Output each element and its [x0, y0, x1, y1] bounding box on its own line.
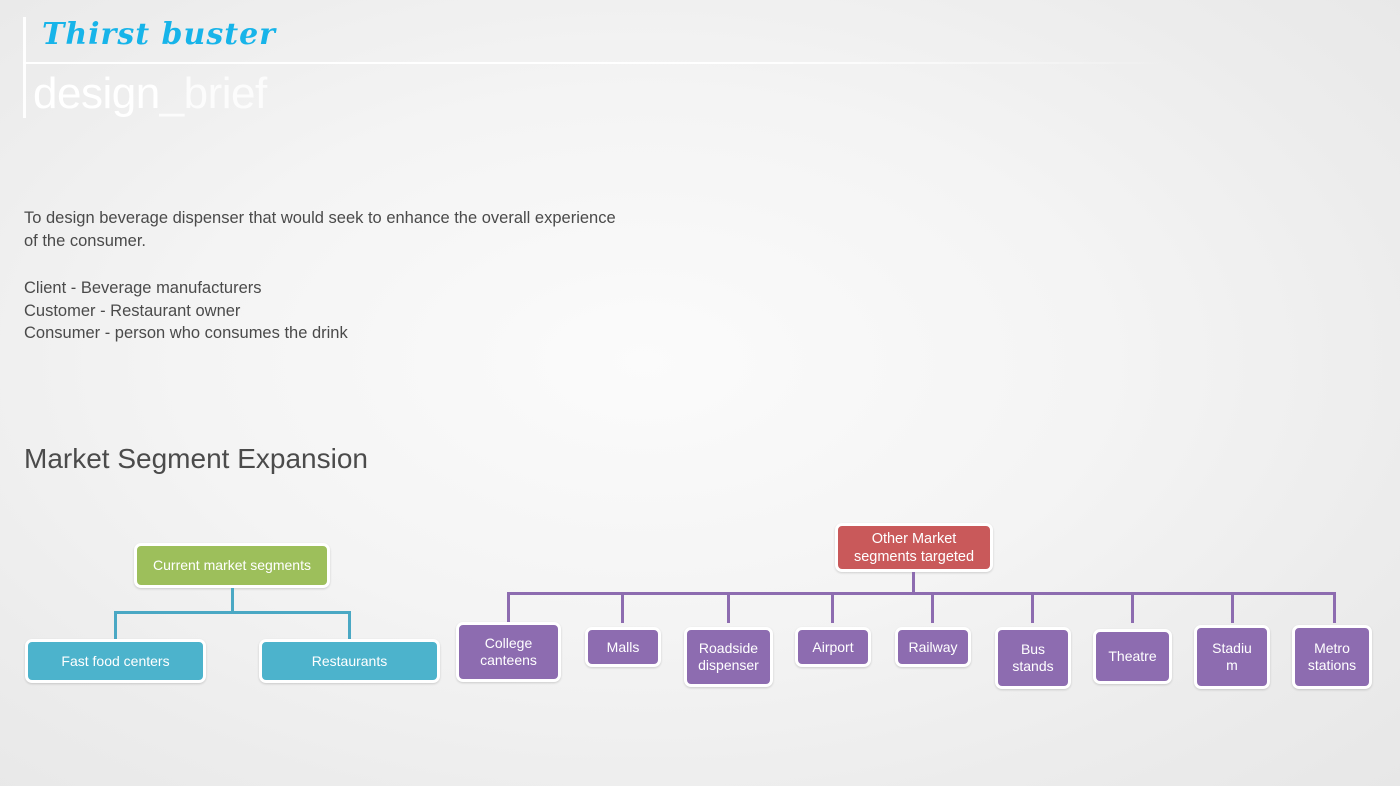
connector-other-drop-2 — [621, 592, 624, 623]
connector-other-drop-6 — [1031, 592, 1034, 623]
node-stadium[interactable]: Stadiu m — [1194, 625, 1270, 689]
connector-other-drop-8 — [1231, 592, 1234, 623]
market-segment-diagram: Current market segments Fast food center… — [0, 0, 1400, 786]
node-restaurants[interactable]: Restaurants — [259, 639, 440, 683]
node-malls[interactable]: Malls — [585, 627, 661, 667]
node-fast-food-centers[interactable]: Fast food centers — [25, 639, 206, 683]
connector-other-root-stem — [912, 572, 915, 594]
connector-current-bus — [114, 611, 351, 614]
connector-other-drop-7 — [1131, 592, 1134, 623]
connector-other-drop-3 — [727, 592, 730, 623]
connector-current-drop-1 — [114, 611, 117, 640]
connector-other-drop-4 — [831, 592, 834, 623]
slide-canvas: Thirst buster design_brief To design bev… — [0, 0, 1400, 786]
node-roadside-dispenser[interactable]: Roadside dispenser — [684, 627, 773, 687]
connector-other-drop-5 — [931, 592, 934, 623]
node-airport[interactable]: Airport — [795, 627, 871, 667]
node-theatre[interactable]: Theatre — [1093, 629, 1172, 684]
connector-other-drop-9 — [1333, 592, 1336, 623]
node-railway[interactable]: Railway — [895, 627, 971, 667]
connector-other-bus — [507, 592, 1336, 595]
connector-current-root-stem — [231, 588, 234, 613]
connector-current-drop-2 — [348, 611, 351, 640]
node-bus-stands[interactable]: Bus stands — [995, 627, 1071, 689]
node-other-market-segments-targeted[interactable]: Other Market segments targeted — [835, 523, 993, 572]
node-current-market-segments[interactable]: Current market segments — [134, 543, 330, 588]
node-college-canteens[interactable]: College canteens — [456, 622, 561, 682]
connector-other-drop-1 — [507, 592, 510, 623]
node-metro-stations[interactable]: Metro stations — [1292, 625, 1372, 689]
